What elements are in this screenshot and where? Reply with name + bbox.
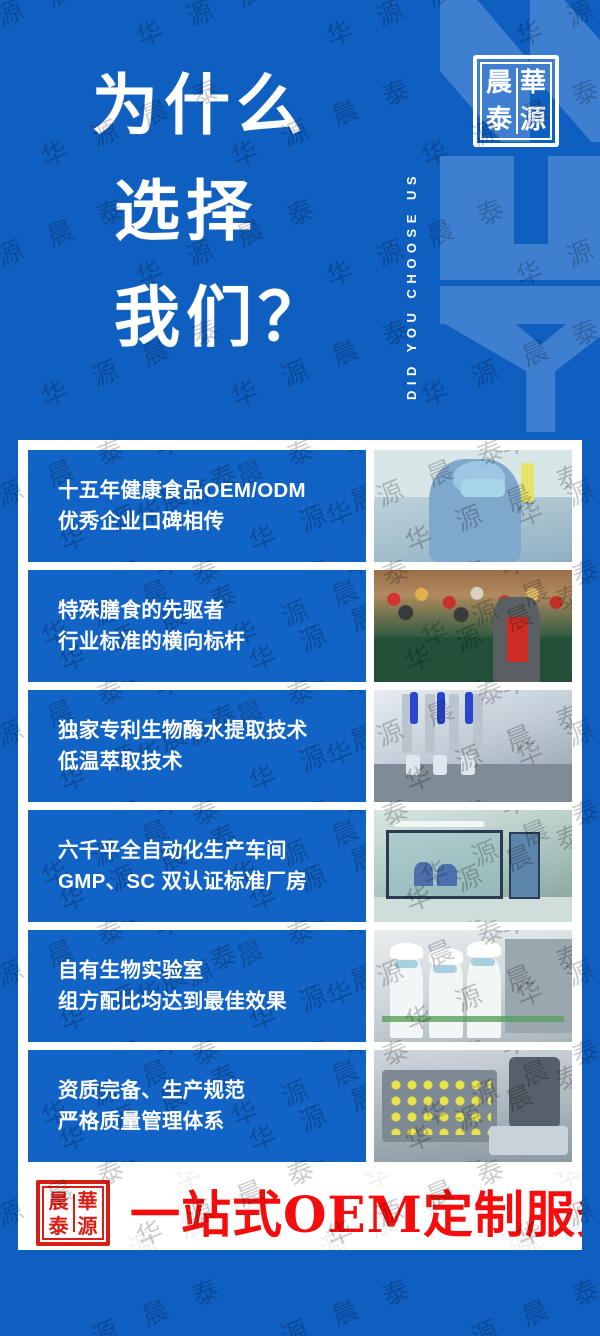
- watermark-text: 华 源 晨 泰: [338, 906, 366, 922]
- watermark-text: 华 源 晨 泰: [338, 666, 366, 682]
- watermark-text: 华 源 晨 泰: [28, 666, 156, 682]
- feature-line-1: 六千平全自动化生产车间: [58, 835, 366, 866]
- title-line-3: 我们？: [114, 264, 392, 370]
- feature-line-1: 资质完备、生产规范: [58, 1075, 366, 1106]
- seal-red-char-yuan: 源: [73, 1213, 102, 1238]
- watermark-text: 华 源 晨 泰: [148, 1050, 346, 1064]
- feature-row: 独家专利生物酶水提取技术低温萃取技术华 源 晨 泰华 源 晨 泰华 源 晨 泰华…: [28, 690, 572, 802]
- seal-char-hua: 華: [516, 64, 550, 101]
- feature-text-cell: 资质完备、生产规范严格质量管理体系华 源 晨 泰华 源 晨 泰华 源 晨 泰华 …: [28, 1050, 366, 1162]
- feature-photo: 华 源 晨 泰华 源 晨 泰华 源 晨 泰华 源 晨 泰华 源 晨 泰华 源 晨…: [374, 1050, 572, 1162]
- watermark-text: 华 源 晨 泰: [28, 786, 156, 802]
- feature-text-cell: 十五年健康食品OEM/ODM优秀企业口碑相传华 源 晨 泰华 源 晨 泰华 源 …: [28, 450, 366, 562]
- feature-line-2: 优秀企业口碑相传: [58, 506, 366, 537]
- page-title: 为什么 选择 我们？: [92, 52, 392, 370]
- feature-rows: 十五年健康食品OEM/ODM优秀企业口碑相传华 源 晨 泰华 源 晨 泰华 源 …: [28, 450, 572, 1162]
- feature-line-1: 十五年健康食品OEM/ODM: [58, 475, 366, 506]
- watermark-text: 华 源 晨 泰: [28, 450, 156, 464]
- watermark-text: 华 源 晨 泰: [28, 570, 156, 584]
- watermark-text: 华 源 晨 泰: [338, 1146, 366, 1162]
- watermark-text: 华 源 晨 泰: [338, 810, 366, 824]
- feature-line-1: 独家专利生物酶水提取技术: [58, 715, 366, 746]
- watermark-text: 华 源 晨 泰: [28, 546, 156, 562]
- watermark-text: 华 源 晨 泰: [148, 906, 346, 922]
- seal-char-chen: 晨: [482, 64, 516, 101]
- feature-photo: 华 源 晨 泰华 源 晨 泰华 源 晨 泰华 源 晨 泰华 源 晨 泰华 源 晨…: [374, 450, 572, 562]
- bottom-banner: 華 晨 源 泰 一站式OEM定制服务 华 源 晨 泰华 源 晨 泰华 源 晨 泰…: [18, 1172, 582, 1250]
- watermark-text: 华 源 晨 泰: [338, 450, 366, 464]
- seal-red-divider: [73, 1194, 75, 1232]
- watermark-text: 华 源 晨 泰: [338, 1050, 366, 1064]
- watermark-text: 华 源 晨 泰: [28, 930, 156, 944]
- watermark-text: 华 源 晨 泰: [28, 906, 156, 922]
- watermark-text: 华 源 晨 泰: [148, 690, 346, 704]
- seal-char-tai: 泰: [482, 101, 516, 138]
- feature-row: 特殊膳食的先驱者行业标准的横向标杆华 源 晨 泰华 源 晨 泰华 源 晨 泰华 …: [28, 570, 572, 682]
- feature-list-frame: 十五年健康食品OEM/ODM优秀企业口碑相传华 源 晨 泰华 源 晨 泰华 源 …: [18, 440, 582, 1172]
- watermark-text: 华 源 晨 泰: [148, 546, 346, 562]
- vertical-english-subtitle: DID YOU CHOOSE US: [404, 28, 430, 400]
- poster-header: 为什么 选择 我们？ DID YOU CHOOSE US 華 晨 源 泰: [0, 0, 600, 432]
- title-line-2: 选择: [114, 158, 392, 264]
- watermark-text: 华 源 晨 泰: [148, 786, 346, 802]
- feature-text-cell: 独家专利生物酶水提取技术低温萃取技术华 源 晨 泰华 源 晨 泰华 源 晨 泰华…: [28, 690, 366, 802]
- watermark-text: 华 源 晨 泰: [28, 1026, 156, 1042]
- watermark-text: 华 源 晨 泰: [148, 930, 346, 944]
- feature-line-2: 行业标准的横向标杆: [58, 626, 366, 657]
- watermark-text: 华 源 晨 泰: [148, 1146, 346, 1162]
- feature-photo: 华 源 晨 泰华 源 晨 泰华 源 晨 泰华 源 晨 泰华 源 晨 泰华 源 晨…: [374, 810, 572, 922]
- feature-line-2: 低温萃取技术: [58, 746, 366, 777]
- feature-line-1: 自有生物实验室: [58, 955, 366, 986]
- watermark-text: 华 源 晨 泰: [28, 810, 156, 824]
- title-line-1: 为什么: [92, 52, 392, 158]
- feature-text-cell: 六千平全自动化生产车间GMP、SC 双认证标准厂房华 源 晨 泰华 源 晨 泰华…: [28, 810, 366, 922]
- feature-row: 十五年健康食品OEM/ODM优秀企业口碑相传华 源 晨 泰华 源 晨 泰华 源 …: [28, 450, 572, 562]
- feature-photo: 华 源 晨 泰华 源 晨 泰华 源 晨 泰华 源 晨 泰华 源 晨 泰华 源 晨…: [374, 690, 572, 802]
- watermark-text: 华 源 晨 泰: [338, 546, 366, 562]
- banner-slogan: 一站式OEM定制服务: [130, 1175, 582, 1247]
- seal-divider: [516, 68, 518, 134]
- seal-red-char-hua: 華: [73, 1188, 102, 1213]
- watermark-text: 华 源 晨 泰: [148, 450, 346, 464]
- watermark-text: 华 源 晨 泰: [225, 1266, 423, 1336]
- watermark-text: 华 源 晨 泰: [28, 1050, 156, 1064]
- feature-line-2: GMP、SC 双认证标准厂房: [58, 866, 366, 897]
- watermark-text: 华 源 晨 泰: [338, 690, 366, 704]
- watermark-text: 华 源 晨 泰: [28, 1146, 156, 1162]
- watermark-text: 华 源 晨 泰: [338, 1026, 366, 1042]
- feature-photo: 华 源 晨 泰华 源 晨 泰华 源 晨 泰华 源 晨 泰华 源 晨 泰华 源 晨…: [374, 930, 572, 1042]
- watermark-text: 华 源 晨 泰: [148, 570, 346, 584]
- company-seal-red: 華 晨 源 泰: [36, 1180, 110, 1246]
- company-seal-white: 華 晨 源 泰: [473, 55, 559, 147]
- watermark-text: 华 源 晨 泰: [148, 666, 346, 682]
- seal-red-char-chen: 晨: [44, 1188, 73, 1213]
- watermark-text: 华 源 晨 泰: [338, 570, 366, 584]
- watermark-text: 华 源 晨 泰: [415, 1266, 600, 1336]
- feature-line-2: 组方配比均达到最佳效果: [58, 986, 366, 1017]
- feature-row: 自有生物实验室组方配比均达到最佳效果华 源 晨 泰华 源 晨 泰华 源 晨 泰华…: [28, 930, 572, 1042]
- seal-red-char-tai: 泰: [44, 1213, 73, 1238]
- feature-row: 六千平全自动化生产车间GMP、SC 双认证标准厂房华 源 晨 泰华 源 晨 泰华…: [28, 810, 572, 922]
- watermark-text: 华 源 晨 泰: [338, 930, 366, 944]
- seal-char-yuan: 源: [516, 101, 550, 138]
- feature-photo: 华 源 晨 泰华 源 晨 泰华 源 晨 泰华 源 晨 泰华 源 晨 泰华 源 晨…: [374, 570, 572, 682]
- feature-text-cell: 特殊膳食的先驱者行业标准的横向标杆华 源 晨 泰华 源 晨 泰华 源 晨 泰华 …: [28, 570, 366, 682]
- feature-row: 资质完备、生产规范严格质量管理体系华 源 晨 泰华 源 晨 泰华 源 晨 泰华 …: [28, 1050, 572, 1162]
- feature-line-2: 严格质量管理体系: [58, 1106, 366, 1137]
- watermark-text: 华 源 晨 泰: [148, 1026, 346, 1042]
- watermark-text: 华 源 晨 泰: [35, 1266, 233, 1336]
- watermark-text: 华 源 晨 泰: [338, 786, 366, 802]
- feature-line-1: 特殊膳食的先驱者: [58, 595, 366, 626]
- feature-text-cell: 自有生物实验室组方配比均达到最佳效果华 源 晨 泰华 源 晨 泰华 源 晨 泰华…: [28, 930, 366, 1042]
- watermark-text: 华 源 晨 泰: [148, 810, 346, 824]
- poster-root: 为什么 选择 我们？ DID YOU CHOOSE US 華 晨 源 泰 十五年…: [0, 0, 600, 1336]
- watermark-text: 华 源 晨 泰: [28, 690, 156, 704]
